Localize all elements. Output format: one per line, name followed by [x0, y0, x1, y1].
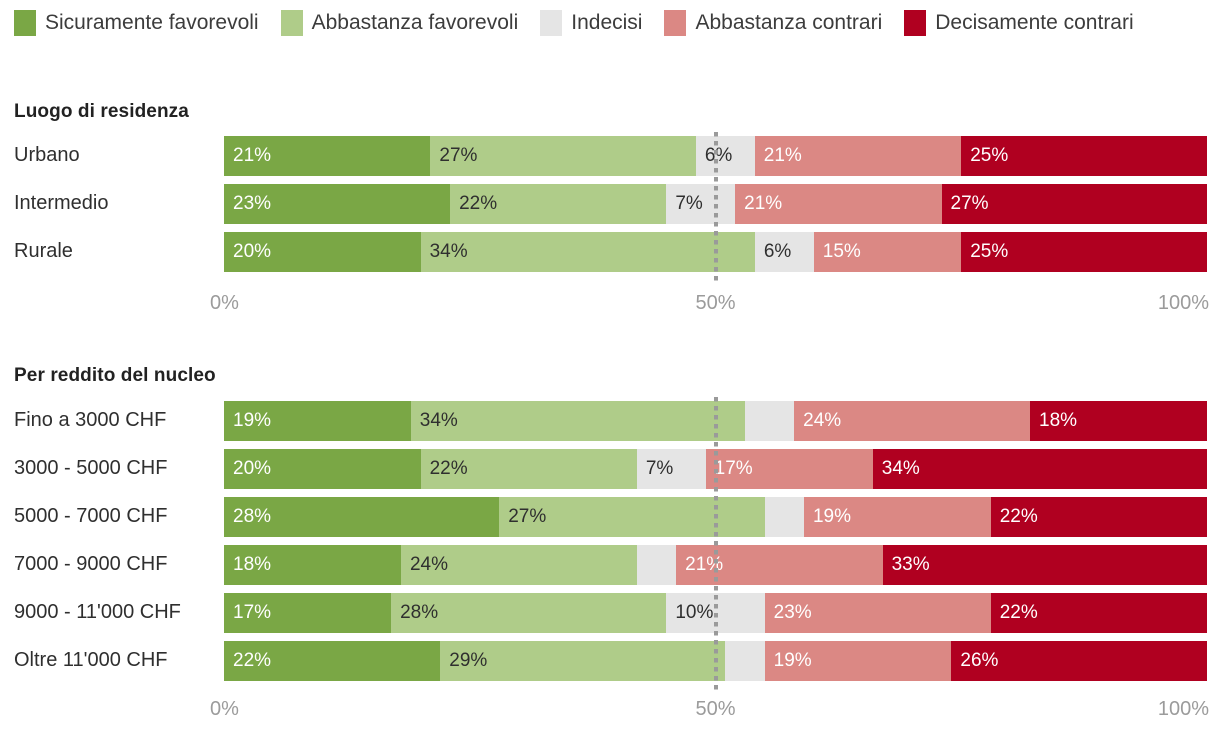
chart-panel-residence: Urbano21%27%6%21%25%Intermedio23%22%7%21…	[0, 135, 1220, 279]
bar-segment-value: 28%	[391, 602, 438, 624]
bar-segment-value: 27%	[430, 145, 477, 167]
legend-item-label: Sicuramente favorevoli	[45, 10, 259, 36]
bar-segment-value: 20%	[224, 241, 271, 263]
axis-tick-0: 0%	[210, 698, 239, 721]
stacked-bar: 20%34%6%15%25%	[224, 232, 1207, 272]
bar-segment: 23%	[765, 593, 991, 633]
bar-row: 9000 - 11'000 CHF17%28%10%23%22%	[0, 592, 1220, 640]
bar-segment-value: 10%	[666, 602, 713, 624]
bar-segment: 29%	[440, 641, 725, 681]
bar-row-label: 5000 - 7000 CHF	[14, 496, 214, 536]
bar-segment	[637, 545, 676, 585]
bar-segment: 27%	[430, 136, 695, 176]
bar-segment: 34%	[411, 401, 745, 441]
legend-item[interactable]: Abbastanza favorevoli	[281, 10, 519, 36]
legend-item-label: Indecisi	[571, 10, 642, 36]
bar-segment-value: 22%	[450, 193, 497, 215]
bar-segment-value: 7%	[666, 193, 702, 215]
bar-segment: 17%	[706, 449, 873, 489]
bar-row: Rurale20%34%6%15%25%	[0, 231, 1220, 279]
bar-row: Intermedio23%22%7%21%27%	[0, 183, 1220, 231]
bar-segment-value: 24%	[794, 410, 841, 432]
bar-row-label: 3000 - 5000 CHF	[14, 448, 214, 488]
bar-segment-value: 18%	[1030, 410, 1077, 432]
stacked-bar: 22%29%19%26%	[224, 641, 1207, 681]
bar-segment: 19%	[765, 641, 952, 681]
bar-segment: 25%	[961, 232, 1207, 272]
bar-segment: 34%	[873, 449, 1207, 489]
bar-segment-value: 22%	[224, 650, 271, 672]
stacked-bar: 19%34%24%18%	[224, 401, 1207, 441]
bar-row-label: Oltre 11'000 CHF	[14, 640, 214, 680]
bar-segment: 33%	[883, 545, 1207, 585]
stacked-bar: 18%24%21%33%	[224, 545, 1207, 585]
bar-segment-value: 19%	[224, 410, 271, 432]
bar-segment-value: 34%	[411, 410, 458, 432]
bar-segment-value: 21%	[224, 145, 271, 167]
bar-segment: 34%	[421, 232, 755, 272]
bar-segment: 21%	[676, 545, 882, 585]
bar-segment-value: 24%	[401, 554, 448, 576]
bar-segment-value: 20%	[224, 458, 271, 480]
legend-swatch-icon	[281, 10, 303, 36]
bar-segment-value: 28%	[224, 506, 271, 528]
stacked-bar: 23%22%7%21%27%	[224, 184, 1207, 224]
bar-segment: 19%	[224, 401, 411, 441]
bar-segment: 19%	[804, 497, 991, 537]
bar-segment: 18%	[224, 545, 401, 585]
legend-item[interactable]: Sicuramente favorevoli	[14, 10, 259, 36]
bar-segment-value: 17%	[224, 602, 271, 624]
chart-page: Sicuramente favorevoliAbbastanza favorev…	[0, 0, 1220, 736]
bar-segment: 26%	[951, 641, 1207, 681]
axis-tick-50: 50%	[695, 292, 735, 315]
bar-segment: 20%	[224, 232, 421, 272]
bar-row-label: Rurale	[14, 231, 214, 271]
bar-segment-value: 27%	[942, 193, 989, 215]
bar-segment-value: 6%	[755, 241, 791, 263]
bar-segment: 10%	[666, 593, 764, 633]
legend-item-label: Decisamente contrari	[935, 10, 1133, 36]
legend-item-label: Abbastanza favorevoli	[312, 10, 519, 36]
bar-segment-value: 23%	[224, 193, 271, 215]
bar-segment: 27%	[942, 184, 1207, 224]
bar-row-label: 7000 - 9000 CHF	[14, 544, 214, 584]
x-axis-income: 0% 50% 100%	[224, 698, 1207, 724]
legend-item-label: Abbastanza contrari	[695, 10, 882, 36]
x-axis-residence: 0% 50% 100%	[224, 292, 1207, 318]
bar-segment: 21%	[224, 136, 430, 176]
bar-segment-value: 19%	[804, 506, 851, 528]
bar-segment-value: 18%	[224, 554, 271, 576]
bar-row-label: Intermedio	[14, 183, 214, 223]
bar-segment-value: 17%	[706, 458, 753, 480]
bar-segment-value: 22%	[991, 506, 1038, 528]
legend-swatch-icon	[664, 10, 686, 36]
bar-segment-value: 26%	[951, 650, 998, 672]
bar-segment: 21%	[735, 184, 941, 224]
axis-tick-50: 50%	[695, 698, 735, 721]
bar-segment-value: 34%	[421, 241, 468, 263]
bar-segment-value: 22%	[991, 602, 1038, 624]
bar-segment-value: 25%	[961, 241, 1008, 263]
legend-swatch-icon	[14, 10, 36, 36]
stacked-bar: 28%27%19%22%	[224, 497, 1207, 537]
bar-segment: 22%	[224, 641, 440, 681]
legend-item[interactable]: Abbastanza contrari	[664, 10, 882, 36]
bar-segment-value: 33%	[883, 554, 930, 576]
bar-segment: 24%	[401, 545, 637, 585]
legend-item[interactable]: Decisamente contrari	[904, 10, 1133, 36]
axis-tick-0: 0%	[210, 292, 239, 315]
bar-segment-value: 27%	[499, 506, 546, 528]
bar-segment-value: 7%	[637, 458, 673, 480]
bar-segment-value: 15%	[814, 241, 861, 263]
bar-segment: 18%	[1030, 401, 1207, 441]
bar-segment	[765, 497, 804, 537]
bar-row: 5000 - 7000 CHF28%27%19%22%	[0, 496, 1220, 544]
bar-row: 3000 - 5000 CHF20%22%7%17%34%	[0, 448, 1220, 496]
bar-segment: 22%	[991, 497, 1207, 537]
bar-segment-value: 25%	[961, 145, 1008, 167]
bar-segment: 22%	[421, 449, 637, 489]
bar-segment: 20%	[224, 449, 421, 489]
bar-segment: 7%	[666, 184, 735, 224]
bar-segment-value: 21%	[735, 193, 782, 215]
bar-row: Urbano21%27%6%21%25%	[0, 135, 1220, 183]
bar-segment: 24%	[794, 401, 1030, 441]
bar-segment: 22%	[991, 593, 1207, 633]
bar-segment	[745, 401, 794, 441]
bar-segment: 25%	[961, 136, 1207, 176]
stacked-bar: 21%27%6%21%25%	[224, 136, 1207, 176]
bar-segment-value: 34%	[873, 458, 920, 480]
bar-segment: 23%	[224, 184, 450, 224]
bar-segment-value: 19%	[765, 650, 812, 672]
section-title-income: Per reddito del nucleo	[14, 365, 216, 387]
bar-segment: 22%	[450, 184, 666, 224]
bar-segment-value: 6%	[696, 145, 732, 167]
bar-segment: 27%	[499, 497, 764, 537]
axis-tick-100: 100%	[1158, 292, 1209, 315]
section-title-residence: Luogo di residenza	[14, 101, 189, 123]
legend-swatch-icon	[540, 10, 562, 36]
bar-row-label: Fino a 3000 CHF	[14, 400, 214, 440]
bar-segment: 28%	[224, 497, 499, 537]
bar-segment: 6%	[696, 136, 755, 176]
bar-segment: 7%	[637, 449, 706, 489]
bar-segment-value: 29%	[440, 650, 487, 672]
legend-item[interactable]: Indecisi	[540, 10, 642, 36]
bar-segment-value: 21%	[676, 554, 723, 576]
bar-segment: 17%	[224, 593, 391, 633]
bar-segment: 21%	[755, 136, 961, 176]
chart-legend: Sicuramente favorevoliAbbastanza favorev…	[14, 10, 1214, 36]
legend-swatch-icon	[904, 10, 926, 36]
bar-segment: 15%	[814, 232, 961, 272]
stacked-bar: 20%22%7%17%34%	[224, 449, 1207, 489]
bar-segment	[725, 641, 764, 681]
bar-segment: 6%	[755, 232, 814, 272]
bar-segment-value: 23%	[765, 602, 812, 624]
bar-row: Oltre 11'000 CHF22%29%19%26%	[0, 640, 1220, 688]
bar-row-label: 9000 - 11'000 CHF	[14, 592, 214, 632]
bar-row-label: Urbano	[14, 135, 214, 175]
chart-panel-income: Fino a 3000 CHF19%34%24%18%3000 - 5000 C…	[0, 400, 1220, 688]
bar-row: Fino a 3000 CHF19%34%24%18%	[0, 400, 1220, 448]
stacked-bar: 17%28%10%23%22%	[224, 593, 1207, 633]
bar-row: 7000 - 9000 CHF18%24%21%33%	[0, 544, 1220, 592]
bar-segment: 28%	[391, 593, 666, 633]
bar-segment-value: 21%	[755, 145, 802, 167]
axis-tick-100: 100%	[1158, 698, 1209, 721]
bar-segment-value: 22%	[421, 458, 468, 480]
